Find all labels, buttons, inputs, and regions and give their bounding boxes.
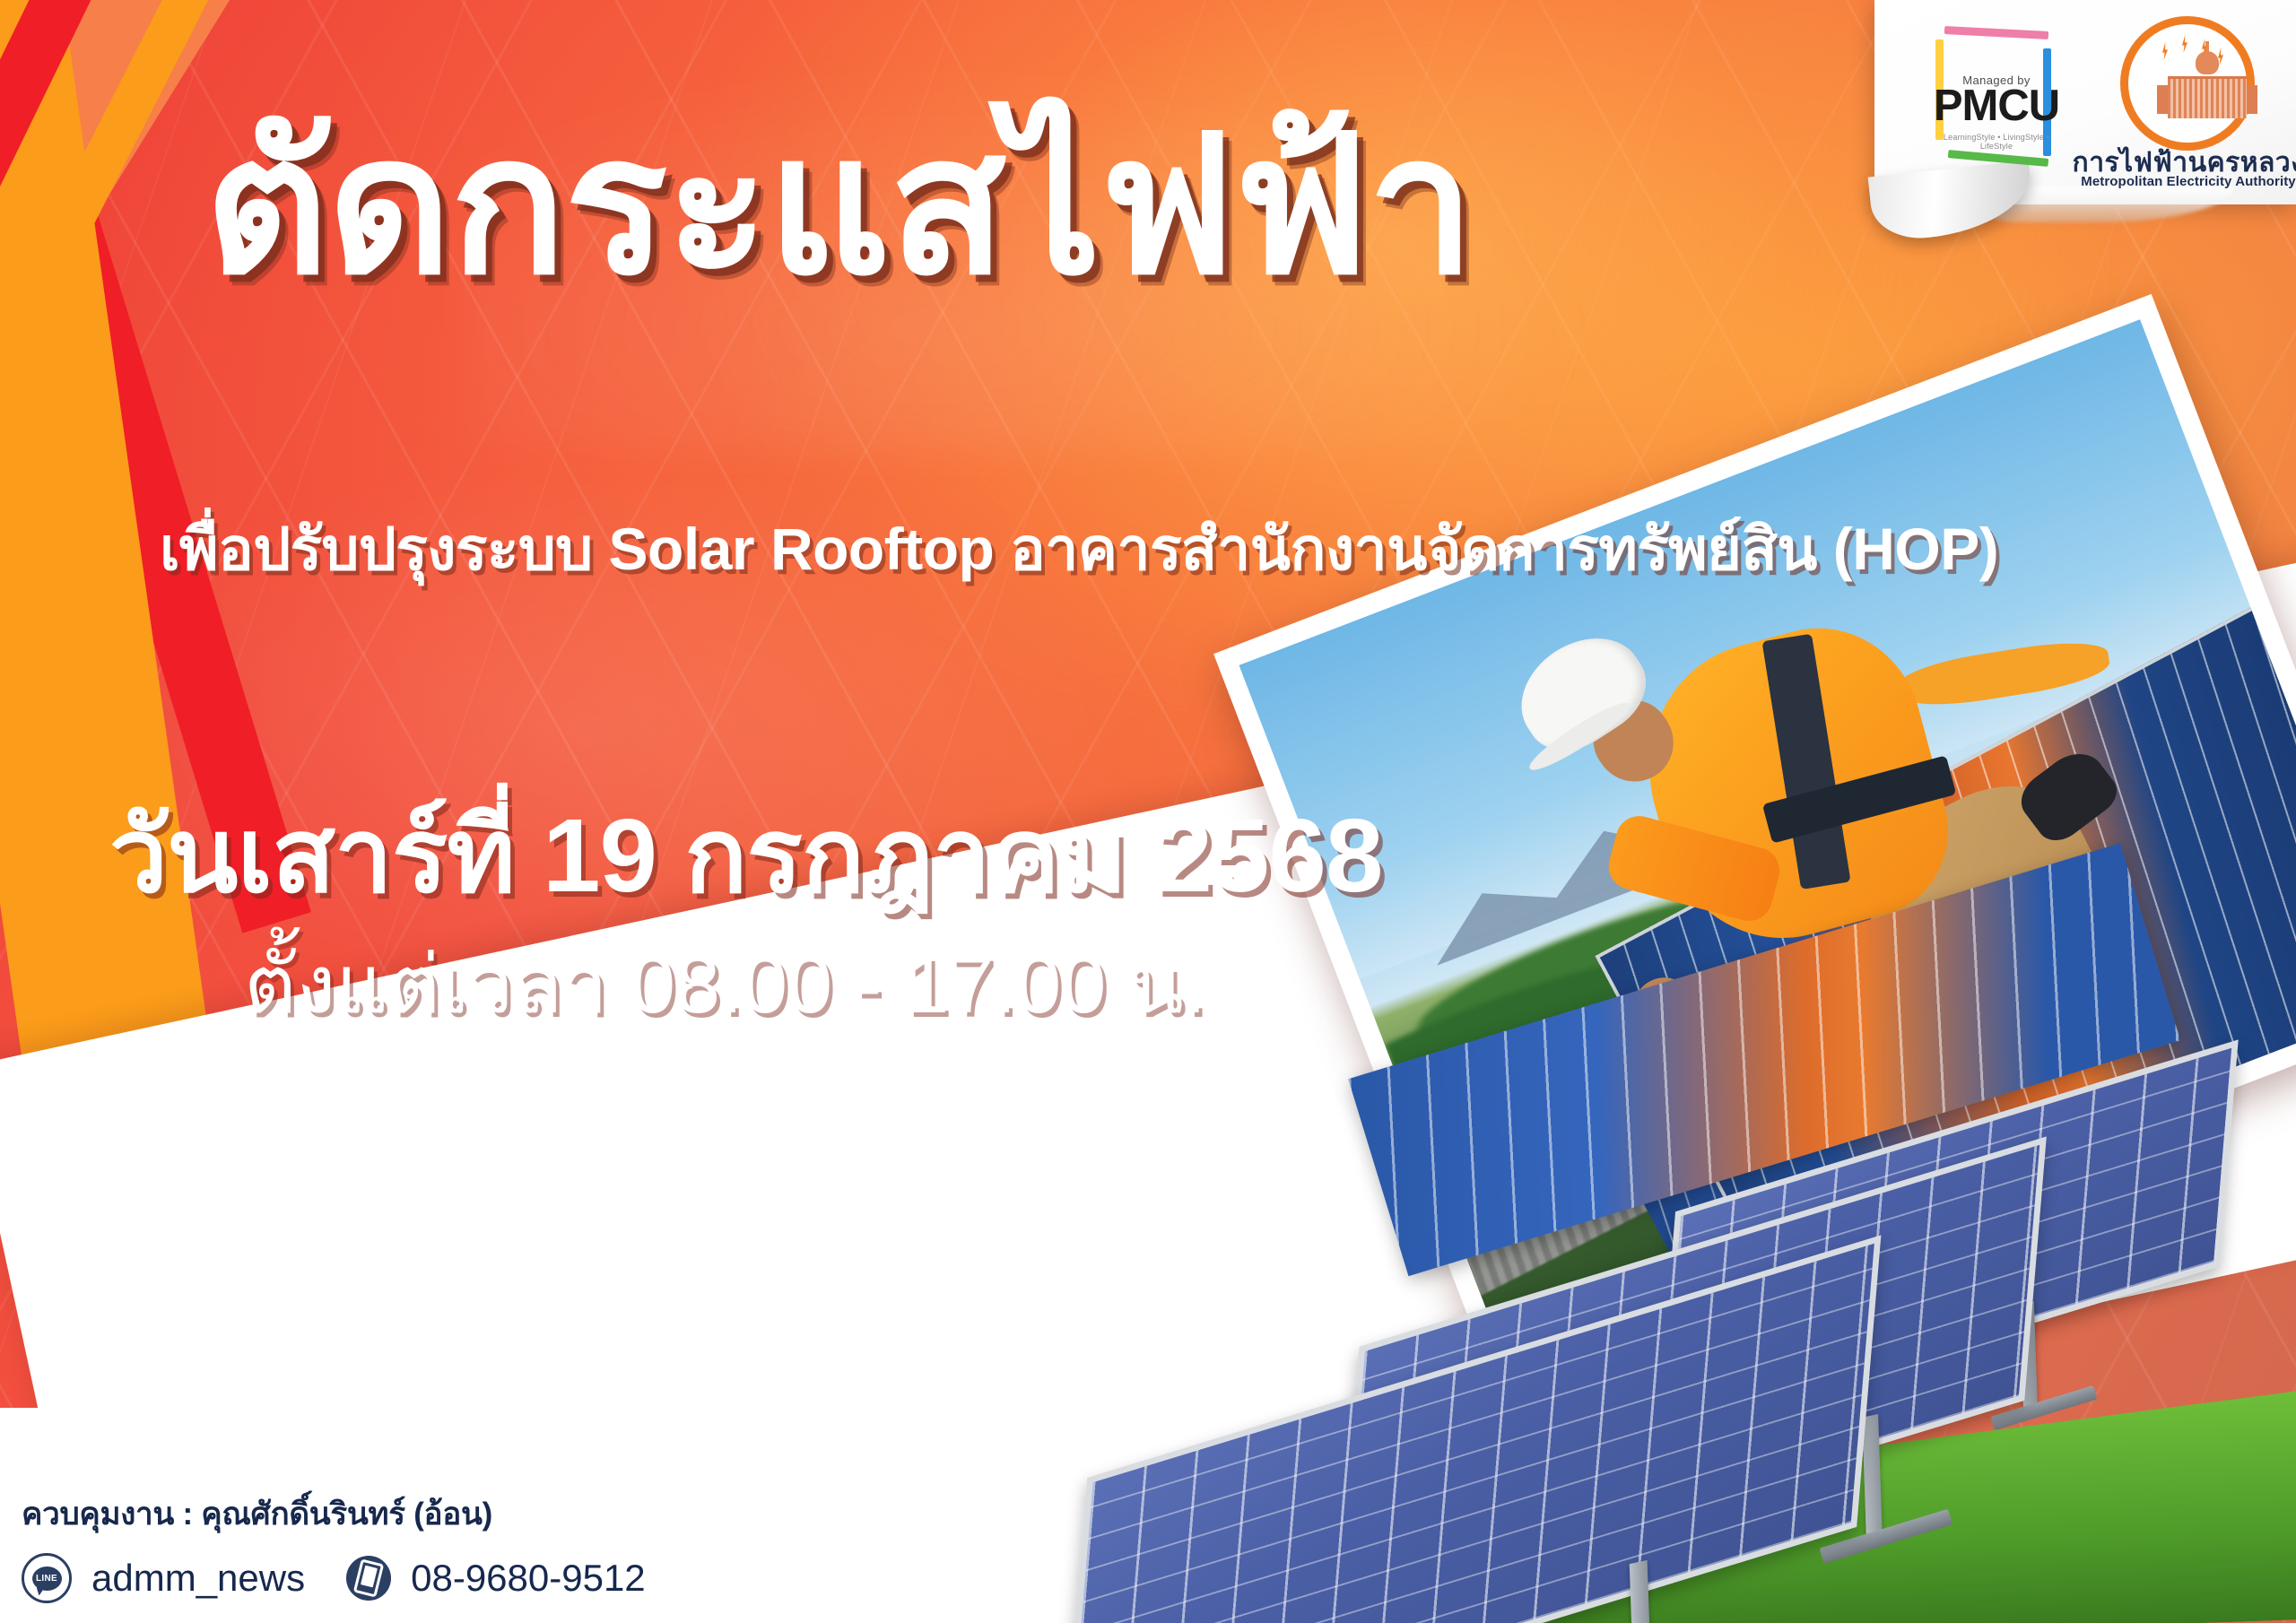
- phone-number-text: 08-9680-9512: [411, 1557, 646, 1600]
- phone-icon-device: [353, 1558, 384, 1597]
- solar-mount-leg-3: [1630, 1560, 1650, 1623]
- phone-icon: [346, 1556, 391, 1601]
- line-icon-label: LINE: [36, 1574, 57, 1584]
- pmcu-bracket-bottom: [1948, 150, 2048, 167]
- contact-row: LINE admm_news 08-9680-9512: [22, 1553, 829, 1603]
- line-id-text: admm_news: [91, 1557, 305, 1600]
- mea-building-body: [2168, 76, 2247, 118]
- pmcu-bracket-top: [1944, 26, 2048, 39]
- pmcu-logo: Managed by PMCU LearningStyle • LivingSt…: [1928, 22, 2070, 176]
- poster-canvas: Managed by PMCU LearningStyle • LivingSt…: [0, 0, 2296, 1623]
- mea-logo-ring: [2120, 16, 2255, 151]
- event-time: ตั้งแต่เวลา 08.00 - 17.00 น.: [244, 920, 1206, 1048]
- mea-building-icon: [2168, 62, 2247, 117]
- pmcu-tagline: LearningStyle • LivingStyle • LifeStyle: [1928, 133, 2065, 151]
- logo-card: Managed by PMCU LearningStyle • LivingSt…: [1874, 0, 2296, 204]
- mea-building-dome: [2196, 51, 2219, 74]
- mea-logo: การไฟฟ้านครหลวง Metropolitan Electricity…: [2100, 16, 2271, 187]
- page-subtitle: เพื่อปรับปรุงระบบ Solar Rooftop อาคารสำน…: [160, 502, 1953, 596]
- pmcu-wordmark: PMCU: [1928, 84, 2065, 128]
- line-icon-bubble: LINE: [32, 1567, 62, 1591]
- solar-farm-graphic: [1041, 1116, 2296, 1623]
- page-title: ตัดกระแสไฟฟ้า: [204, 93, 1263, 320]
- event-date: วันเสาร์ที่ 19 กรกฎาคม 2568: [109, 773, 1382, 938]
- mea-name-english: Metropolitan Electricity Authority: [2054, 174, 2296, 189]
- worker-safety-rope: [1895, 635, 2112, 713]
- line-icon: LINE: [22, 1553, 72, 1603]
- footer: ควบคุมงาน : คุณศักดิ์นรินทร์ (อ้อน) LINE…: [22, 1489, 829, 1603]
- supervisor-label: ควบคุมงาน : คุณศักดิ์นรินทร์ (อ้อน): [22, 1489, 829, 1539]
